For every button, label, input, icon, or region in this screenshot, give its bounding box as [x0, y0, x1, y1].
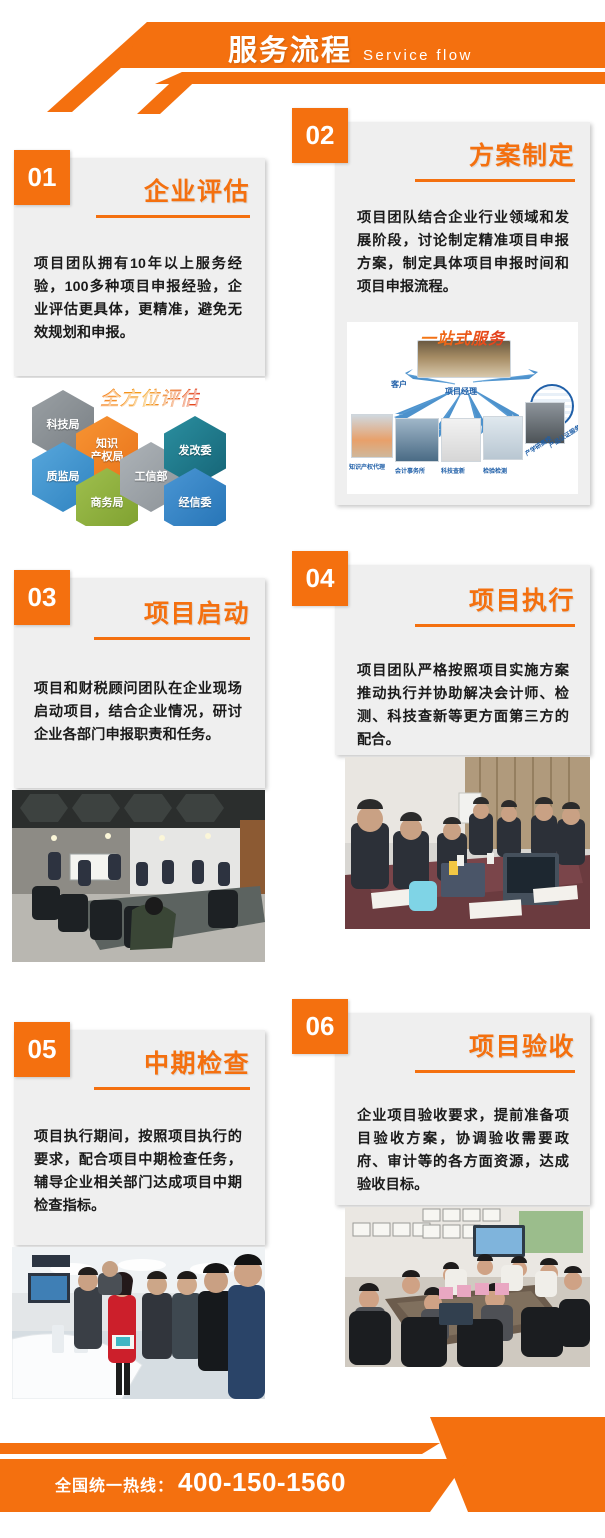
hex-node-label-1: 知识 产权局 [91, 438, 124, 463]
one-stop-branch-label-2: 科技查新 [441, 466, 465, 475]
title-underline-04 [415, 624, 575, 627]
page-title-cn: 服务流程 [228, 27, 352, 69]
card-media-01: 全方位评估 科技局 知识 产权局 质监局 商务局 工信部 发改委 经信委 [14, 378, 265, 526]
card-title-05: 中期检查 [80, 1044, 250, 1080]
hex-node-label-3: 商务局 [91, 497, 124, 510]
card-text-03: 项目和财税顾问团队在企业现场启动项目，结合企业情况，研讨企业各部门申报职责和任务… [34, 678, 242, 747]
card-text-05: 项目执行期间，按照项目执行的要求，配合项目中期检查任务，辅导企业相关部门达成项目… [34, 1126, 242, 1218]
one-stop-branch-label-1: 会计事务所 [395, 466, 425, 475]
photo-conference-room-icon [12, 790, 265, 962]
hex-chart: 全方位评估 科技局 知识 产权局 质监局 商务局 工信部 发改委 经信委 [14, 378, 265, 526]
card-title-04: 项目执行 [401, 581, 575, 617]
hotline-label: 全国统一热线： [55, 1472, 174, 1496]
step-number-03: 03 [28, 582, 57, 613]
photo-meeting-laptops-icon [345, 757, 590, 929]
step-badge-06: 06 [292, 999, 348, 1054]
card-text-02: 项目团队结合企业行业领域和发展阶段，讨论制定精准项目申报方案，制定具体项目申报时… [357, 207, 569, 299]
one-stop-branch-label-3: 检验检测 [483, 466, 507, 475]
hex-node-label-5: 发改委 [179, 445, 212, 458]
one-stop-label-customer: 客户 [391, 379, 407, 390]
card-title-03: 项目启动 [80, 594, 250, 630]
one-stop-branch-label-0: 知识产权代理 [349, 462, 385, 471]
one-stop-node-2 [441, 418, 481, 462]
hex-node-label-2: 质监局 [47, 471, 80, 484]
hex-node-label-4: 工信部 [135, 471, 168, 484]
step-badge-03: 03 [14, 570, 70, 625]
one-stop-node-0 [351, 414, 393, 458]
title-underline-03 [94, 637, 250, 640]
step-badge-04: 04 [292, 551, 348, 606]
hotline: 全国统一热线： 400-150-1560 [55, 1467, 346, 1498]
hex-node-label-0: 科技局 [47, 419, 80, 432]
title-underline-01 [96, 215, 250, 218]
photo-lobby-tour-icon [12, 1247, 265, 1399]
hex-chart-title: 全方位评估 [100, 384, 200, 411]
page-footer: 全国统一热线： 400-150-1560 [0, 1418, 605, 1538]
card-text-06: 企业项目验收要求，提前准备项目验收方案，协调验收需要政府、审计等的各方面资源，达… [357, 1105, 569, 1197]
card-title-01: 企业评估 [82, 172, 250, 208]
step-card-06[interactable]: 项目验收 企业项目验收要求，提前准备项目验收方案，协调验收需要政府、审计等的各方… [335, 1013, 590, 1205]
step-badge-02: 02 [292, 108, 348, 163]
step-badge-01: 01 [14, 150, 70, 205]
card-media-03 [12, 790, 265, 962]
page-title-en: Service flow [363, 47, 473, 64]
step-number-05: 05 [28, 1034, 57, 1065]
card-title-02: 方案制定 [401, 136, 575, 172]
card-media-02: 一站式服务 [347, 322, 578, 494]
card-title-06: 项目验收 [401, 1027, 575, 1063]
card-text-01: 项目团队拥有10年以上服务经验，100多种项目申报经验，企业评估更具体，更精准，… [34, 253, 242, 345]
page-header: 服务流程 Service flow [0, 0, 605, 112]
card-media-04 [345, 757, 590, 929]
one-stop-node-1 [395, 418, 439, 462]
card-media-06 [345, 1207, 590, 1367]
card-media-05 [12, 1247, 265, 1399]
step-card-04[interactable]: 项目执行 项目团队严格按照项目实施方案推动执行并协助解决会计师、检测、科技查新等… [335, 565, 590, 755]
title-underline-06 [415, 1070, 575, 1073]
step-number-02: 02 [306, 120, 335, 151]
card-text-04: 项目团队严格按照项目实施方案推动执行并协助解决会计师、检测、科技查新等更方面第三… [357, 660, 569, 752]
step-badge-05: 05 [14, 1022, 70, 1077]
one-stop-node-3 [483, 416, 523, 460]
one-stop-label-manager: 项目经理 [445, 386, 477, 397]
step-number-01: 01 [28, 162, 57, 193]
hotline-number[interactable]: 400-150-1560 [178, 1467, 346, 1498]
one-stop-title: 一站式服务 [420, 325, 505, 349]
title-underline-02 [415, 179, 575, 182]
page-title: 服务流程 Service flow [228, 27, 473, 69]
step-number-06: 06 [306, 1011, 335, 1042]
one-stop-diagram: 一站式服务 [347, 322, 578, 494]
step-number-04: 04 [306, 563, 335, 594]
hex-node-label-6: 经信委 [179, 497, 212, 510]
title-underline-05 [94, 1087, 250, 1090]
step-card-02[interactable]: 方案制定 项目团队结合企业行业领域和发展阶段，讨论制定精准项目申报方案，制定具体… [335, 122, 590, 505]
photo-boardroom-certs-icon [345, 1207, 590, 1367]
